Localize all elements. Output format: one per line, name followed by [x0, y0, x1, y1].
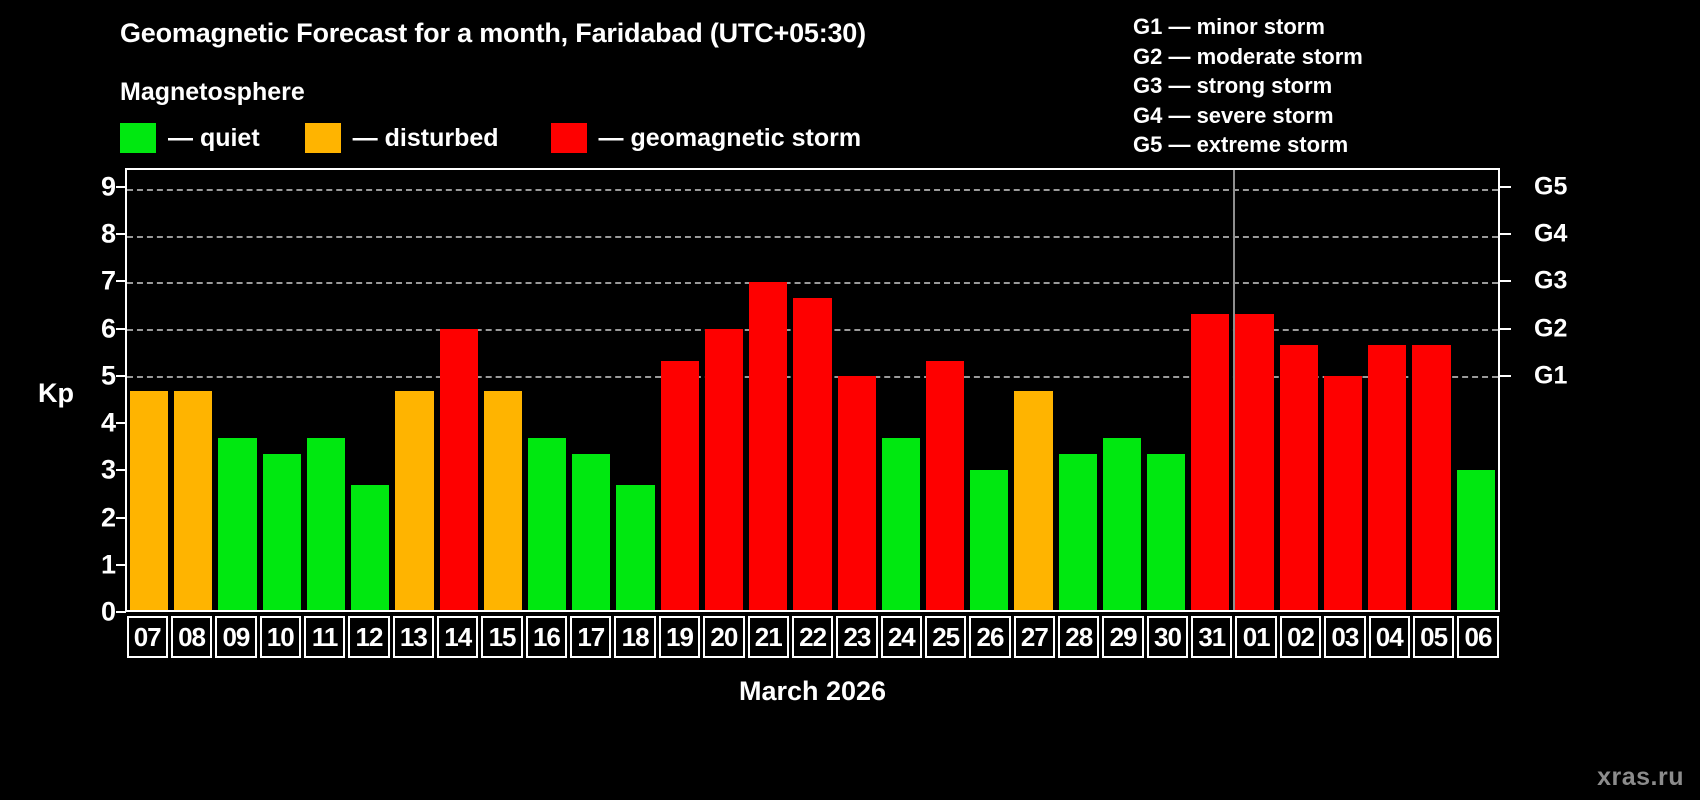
date-label-20[interactable]: 20	[703, 616, 744, 658]
bar-cell[interactable]	[1011, 170, 1055, 610]
date-label-15[interactable]: 15	[481, 616, 522, 658]
bar-18[interactable]	[616, 485, 654, 610]
y-tick-label-7: 7	[101, 268, 116, 295]
date-label-02[interactable]: 02	[1280, 616, 1321, 658]
date-label-22[interactable]: 22	[792, 616, 833, 658]
bar-cell[interactable]	[1188, 170, 1232, 610]
bar-cell[interactable]	[702, 170, 746, 610]
bar-cell[interactable]	[304, 170, 348, 610]
watermark: xras.ru	[1597, 763, 1684, 792]
g-tick-label-G4: G4	[1534, 222, 1567, 247]
y-tick-label-5: 5	[101, 362, 116, 389]
bar-cell[interactable]	[215, 170, 259, 610]
bar-cell[interactable]	[1277, 170, 1321, 610]
date-label-08[interactable]: 08	[171, 616, 212, 658]
bar-02[interactable]	[1280, 345, 1318, 610]
g-scale-g2: G2 — moderate storm	[1133, 42, 1363, 72]
bar-28[interactable]	[1059, 454, 1097, 610]
g-scale-g4: G4 — severe storm	[1133, 101, 1363, 131]
bar-04[interactable]	[1368, 345, 1406, 610]
date-label-31[interactable]: 31	[1191, 616, 1232, 658]
bar-05[interactable]	[1412, 345, 1450, 610]
date-label-26[interactable]: 26	[969, 616, 1010, 658]
page-title: Geomagnetic Forecast for a month, Farida…	[120, 18, 866, 49]
date-label-30[interactable]: 30	[1147, 616, 1188, 658]
g-scale-g3: G3 — strong storm	[1133, 71, 1363, 101]
bar-cell[interactable]	[613, 170, 657, 610]
x-axis-title: March 2026	[739, 676, 886, 706]
bar-cell[interactable]	[879, 170, 923, 610]
bar-cell[interactable]	[967, 170, 1011, 610]
date-label-14[interactable]: 14	[437, 616, 478, 658]
legend-label-disturbed: — disturbed	[353, 124, 499, 153]
magnetosphere-legend: — quiet — disturbed — geomagnetic storm	[120, 122, 861, 154]
bar-29[interactable]	[1103, 438, 1141, 610]
x-axis-date-labels: 0708091011121314151617181920212223242526…	[125, 616, 1500, 658]
bar-09[interactable]	[218, 438, 256, 610]
g-tick-G1	[1500, 375, 1511, 377]
date-label-29[interactable]: 29	[1102, 616, 1143, 658]
bar-22[interactable]	[793, 298, 831, 610]
bar-23[interactable]	[838, 376, 876, 610]
bar-cell[interactable]	[1409, 170, 1453, 610]
bar-31[interactable]	[1191, 314, 1229, 610]
bar-21[interactable]	[749, 282, 787, 610]
bar-11[interactable]	[307, 438, 345, 610]
bar-27[interactable]	[1014, 391, 1052, 610]
bar-cell[interactable]	[437, 170, 481, 610]
date-label-23[interactable]: 23	[836, 616, 877, 658]
date-label-16[interactable]: 16	[526, 616, 567, 658]
bar-cell[interactable]	[392, 170, 436, 610]
bar-24[interactable]	[882, 438, 920, 610]
bar-series	[127, 170, 1498, 610]
bar-cell[interactable]	[746, 170, 790, 610]
bar-cell[interactable]	[835, 170, 879, 610]
g-tick-G3	[1500, 280, 1511, 282]
g-scale-g5: G5 — extreme storm	[1133, 130, 1363, 160]
bar-26[interactable]	[970, 470, 1008, 610]
y-tick-label-6: 6	[101, 315, 116, 342]
date-label-19[interactable]: 19	[659, 616, 700, 658]
date-label-24[interactable]: 24	[881, 616, 922, 658]
bar-cell[interactable]	[1365, 170, 1409, 610]
date-label-10[interactable]: 10	[260, 616, 301, 658]
bar-01[interactable]	[1235, 314, 1273, 610]
bar-cell[interactable]	[1144, 170, 1188, 610]
legend-item-disturbed: — disturbed	[305, 122, 499, 154]
date-label-28[interactable]: 28	[1058, 616, 1099, 658]
bar-16[interactable]	[528, 438, 566, 610]
bar-cell[interactable]	[923, 170, 967, 610]
g-tick-G2	[1500, 328, 1511, 330]
date-label-25[interactable]: 25	[925, 616, 966, 658]
bar-15[interactable]	[484, 391, 522, 610]
bar-cell[interactable]	[1321, 170, 1365, 610]
y-axis-title: Kp	[38, 378, 74, 409]
g-tick-label-G3: G3	[1534, 269, 1567, 294]
bar-cell[interactable]	[171, 170, 215, 610]
y-tick-label-8: 8	[101, 221, 116, 248]
bar-20[interactable]	[705, 329, 743, 610]
bar-30[interactable]	[1147, 454, 1185, 610]
bar-cell[interactable]	[658, 170, 702, 610]
bar-13[interactable]	[395, 391, 433, 610]
bar-cell[interactable]	[525, 170, 569, 610]
g-tick-label-G1: G1	[1534, 363, 1567, 388]
g-tick-label-G5: G5	[1534, 174, 1567, 199]
bar-19[interactable]	[661, 361, 699, 610]
date-label-05[interactable]: 05	[1413, 616, 1454, 658]
legend-item-storm: — geomagnetic storm	[551, 122, 862, 154]
bar-cell[interactable]	[127, 170, 171, 610]
bar-12[interactable]	[351, 485, 389, 610]
date-label-21[interactable]: 21	[748, 616, 789, 658]
bar-08[interactable]	[174, 391, 212, 610]
date-label-07[interactable]: 07	[127, 616, 168, 658]
bar-03[interactable]	[1324, 376, 1362, 610]
y-tick-label-9: 9	[101, 173, 116, 200]
date-label-13[interactable]: 13	[393, 616, 434, 658]
y-tick-label-2: 2	[101, 504, 116, 531]
geomagnetic-forecast-chart: Geomagnetic Forecast for a month, Farida…	[0, 0, 1700, 800]
date-label-11[interactable]: 11	[304, 616, 345, 658]
bar-cell[interactable]	[348, 170, 392, 610]
g-tick-label-G2: G2	[1534, 316, 1567, 341]
legend-swatch-disturbed-icon	[305, 123, 341, 153]
bar-cell[interactable]	[569, 170, 613, 610]
bar-17[interactable]	[572, 454, 610, 610]
legend-title: Magnetosphere	[120, 78, 305, 107]
g-scale-legend: G1 — minor storm G2 — moderate storm G3 …	[1133, 12, 1363, 160]
y-tick-label-3: 3	[101, 457, 116, 484]
date-label-01[interactable]: 01	[1235, 616, 1276, 658]
current-time-marker	[1233, 170, 1235, 610]
g-scale-g1: G1 — minor storm	[1133, 12, 1363, 42]
bar-10[interactable]	[263, 454, 301, 610]
bar-cell[interactable]	[1100, 170, 1144, 610]
y-axis-labels: 0123456789	[72, 168, 116, 612]
bar-14[interactable]	[440, 329, 478, 610]
plot-area	[125, 168, 1500, 612]
date-label-03[interactable]: 03	[1324, 616, 1365, 658]
y-tick-label-1: 1	[101, 551, 116, 578]
legend-swatch-quiet-icon	[120, 123, 156, 153]
bar-06[interactable]	[1457, 470, 1495, 610]
y-tick-label-0: 0	[101, 599, 116, 626]
bar-cell[interactable]	[1232, 170, 1276, 610]
date-label-18[interactable]: 18	[614, 616, 655, 658]
legend-label-quiet: — quiet	[168, 124, 260, 153]
date-label-27[interactable]: 27	[1014, 616, 1055, 658]
legend-item-quiet: — quiet	[120, 122, 260, 154]
date-label-06[interactable]: 06	[1457, 616, 1498, 658]
bar-25[interactable]	[926, 361, 964, 610]
bar-cell[interactable]	[1454, 170, 1498, 610]
legend-label-storm: — geomagnetic storm	[599, 124, 862, 153]
date-label-17[interactable]: 17	[570, 616, 611, 658]
bar-cell[interactable]	[790, 170, 834, 610]
y-tick-label-4: 4	[101, 410, 116, 437]
g-tick-G4	[1500, 233, 1511, 235]
legend-swatch-storm-icon	[551, 123, 587, 153]
date-label-04[interactable]: 04	[1369, 616, 1410, 658]
date-label-12[interactable]: 12	[348, 616, 389, 658]
bar-cell[interactable]	[260, 170, 304, 610]
bar-cell[interactable]	[1056, 170, 1100, 610]
g-axis-labels: G1G2G3G4G5	[1512, 168, 1592, 612]
date-label-09[interactable]: 09	[215, 616, 256, 658]
bar-07[interactable]	[130, 391, 168, 610]
bar-cell[interactable]	[481, 170, 525, 610]
g-tick-G5	[1500, 186, 1511, 188]
